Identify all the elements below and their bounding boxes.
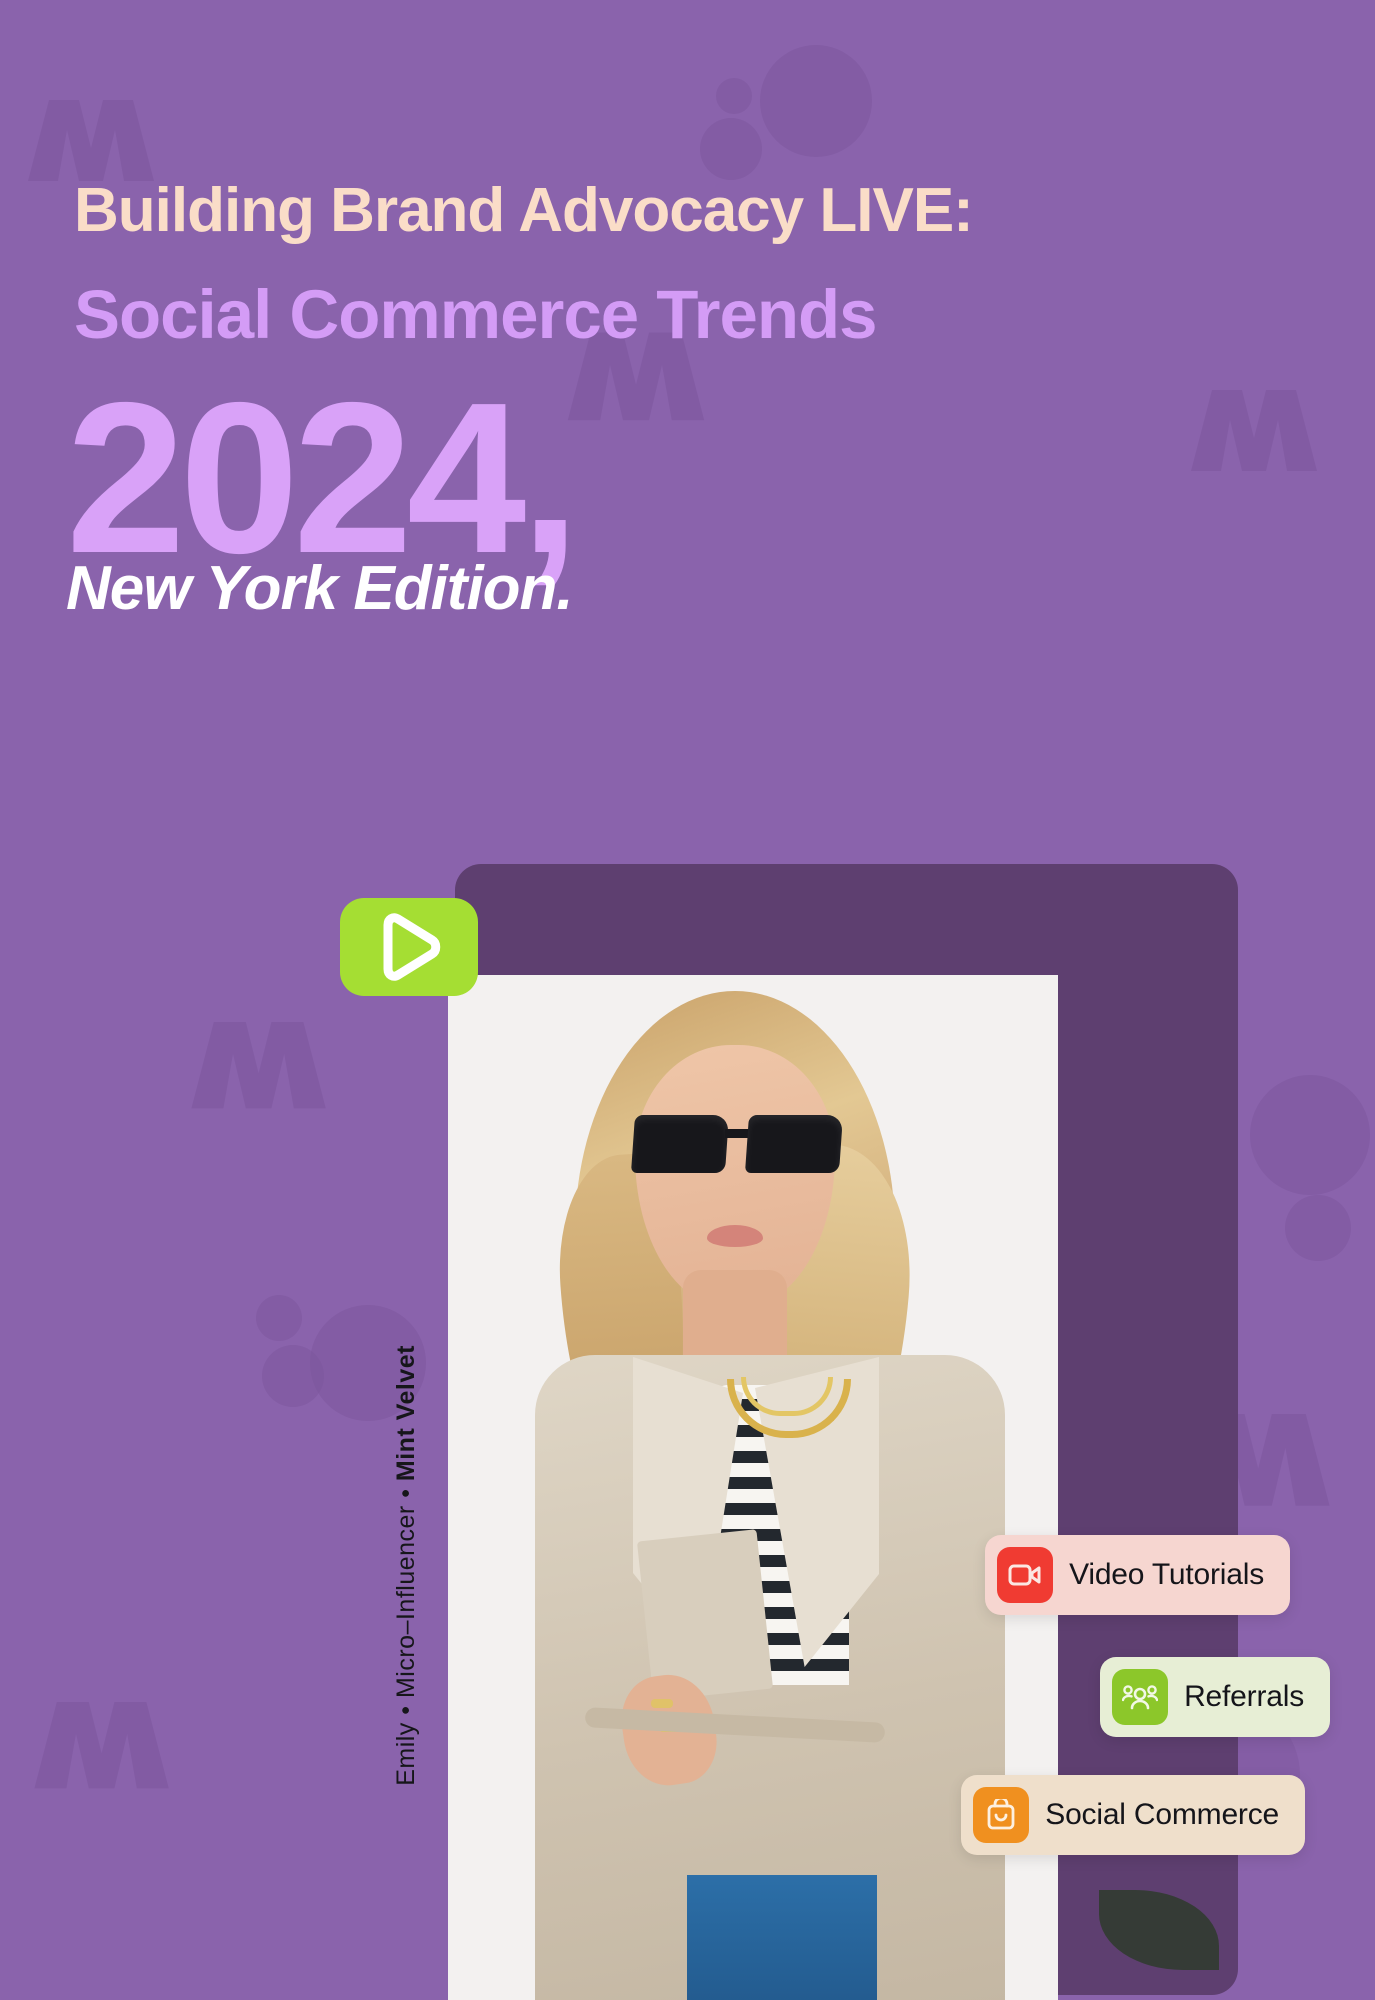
headline-edition: New York Edition.: [0, 558, 573, 620]
influencer-credit: Emily • Micro–Influencer • Mint Velvet: [392, 1345, 421, 1786]
sunglass-lens-right: [745, 1115, 843, 1173]
badge-social-commerce[interactable]: Social Commerce: [961, 1775, 1305, 1855]
credit-brand: Mint Velvet: [392, 1345, 420, 1481]
credit-prefix: Emily • Micro–Influencer •: [392, 1481, 420, 1786]
ring-shape: [651, 1699, 673, 1708]
video-camera-icon: [997, 1547, 1053, 1603]
sunglass-lens-left: [631, 1115, 729, 1173]
badge-label: Video Tutorials: [1069, 1558, 1264, 1592]
play-icon: [372, 912, 446, 982]
headline-year: 2024,: [0, 370, 574, 585]
badge-video-tutorials[interactable]: Video Tutorials: [985, 1535, 1290, 1615]
jeans-shape: [687, 1875, 877, 2000]
badge-referrals[interactable]: Referrals: [1100, 1657, 1330, 1737]
headline-line-1: Building Brand Advocacy LIVE:: [0, 180, 973, 242]
lips-shape: [707, 1225, 763, 1247]
badge-label: Social Commerce: [1045, 1798, 1279, 1832]
headline-line-2: Social Commerce Trends: [0, 280, 877, 349]
poster-canvas: Building Brand Advocacy LIVE: Social Com…: [0, 0, 1375, 2000]
plant-leaf: [1099, 1890, 1219, 1970]
play-button[interactable]: [340, 898, 478, 996]
people-group-icon: [1112, 1669, 1168, 1725]
shopping-bag-icon: [973, 1787, 1029, 1843]
badge-label: Referrals: [1184, 1680, 1304, 1714]
sunglasses-icon: [633, 1115, 841, 1177]
